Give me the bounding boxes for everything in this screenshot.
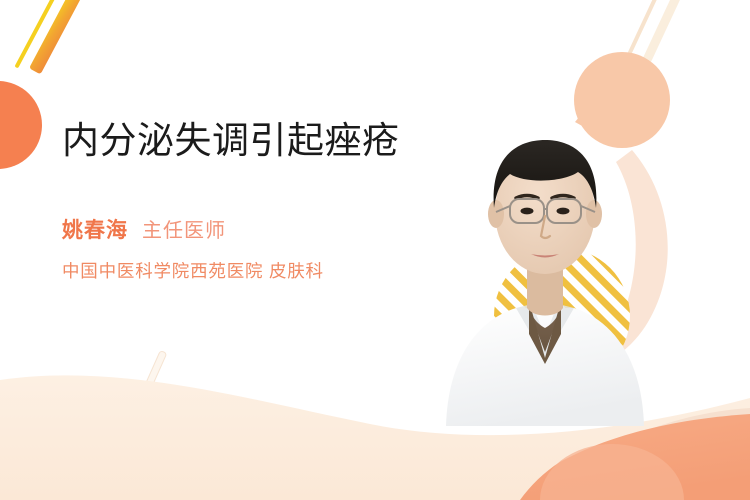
ear-right: [586, 200, 602, 228]
doctor-portrait-photo: [430, 96, 660, 426]
byline: 姚春海主任医师 中国中医科学院西苑医院 皮肤科: [62, 215, 412, 283]
eye-right: [557, 208, 570, 215]
lab-coat: [446, 308, 644, 426]
orange-circle-top-left: [0, 81, 42, 169]
doctor-intro-card: 内分泌失调引起痤疮 姚春海主任医师 中国中医科学院西苑医院 皮肤科: [0, 0, 750, 500]
hospital-department: 中国中医科学院西苑医院 皮肤科: [62, 258, 412, 283]
doctor-line: 姚春海主任医师: [62, 215, 412, 248]
text-block: 内分泌失调引起痤疮 姚春海主任医师 中国中医科学院西苑医院 皮肤科: [62, 118, 412, 283]
eye-left: [521, 208, 534, 215]
ear-left: [488, 200, 504, 228]
doctor-title: 主任医师: [142, 220, 226, 242]
page-title: 内分泌失调引起痤疮: [62, 118, 402, 163]
doctor-name: 姚春海: [62, 219, 128, 242]
orange-streak-top-left: [29, 0, 96, 74]
